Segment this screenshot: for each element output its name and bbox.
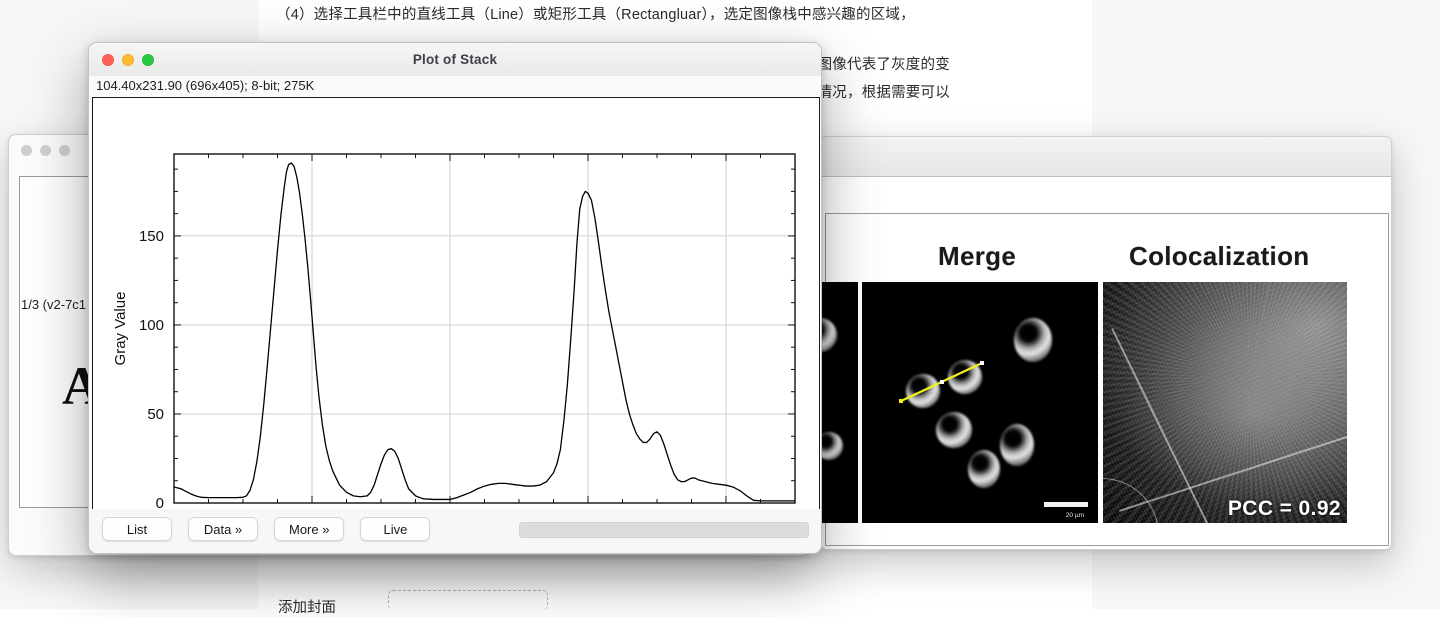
window-titlebar[interactable] — [821, 137, 1391, 177]
profile-plot-svg: 020406080050100150Distance (pixels)Gray … — [93, 98, 819, 554]
live-button[interactable]: Live — [360, 517, 430, 541]
more-menu-button[interactable]: More » — [274, 517, 344, 541]
plot-window-title: Plot of Stack — [89, 52, 821, 67]
add-cover-dropzone[interactable] — [388, 590, 548, 610]
plot-slider[interactable] — [519, 522, 809, 538]
microscopy-panel-merge: 20 μm — [862, 282, 1098, 523]
pcc-value-label: PCC = 0.92 — [1228, 497, 1341, 521]
svg-text:50: 50 — [147, 406, 164, 423]
plot-toolbar[interactable]: List Data » More » Live — [89, 509, 821, 553]
svg-text:Gray Value: Gray Value — [112, 292, 129, 366]
figure-panel-title-merge: Merge — [938, 241, 1016, 272]
plot-window-titlebar[interactable]: Plot of Stack — [89, 43, 821, 77]
minimize-icon[interactable] — [40, 145, 51, 156]
svg-text:100: 100 — [139, 317, 164, 334]
plot-info-text: 104.40x231.90 (696x405); 8-bit; 275K — [96, 78, 314, 93]
close-icon[interactable] — [21, 145, 32, 156]
microscopy-panel-colocalization: PCC = 0.92 — [1103, 282, 1347, 523]
plot-of-stack-window[interactable]: Plot of Stack 104.40x231.90 (696x405); 8… — [88, 42, 822, 554]
add-cover-label: 添加封面 — [278, 596, 336, 617]
svg-text:150: 150 — [139, 228, 164, 245]
data-menu-button[interactable]: Data » — [188, 517, 258, 541]
scale-bar — [1044, 502, 1088, 507]
plot-canvas[interactable]: 020406080050100150Distance (pixels)Gray … — [92, 97, 820, 554]
window-controls-inactive[interactable] — [21, 145, 70, 156]
figure-panel-title-colocalization: Colocalization — [1129, 241, 1309, 272]
scale-bar-label: 20 μm — [1066, 512, 1084, 519]
plot-info-bar: 104.40x231.90 (696x405); 8-bit; 275K — [89, 76, 821, 97]
colocalization-scatter-cloud — [1103, 282, 1347, 523]
stack-position-status: 1/3 (v2-7c1 — [21, 297, 86, 312]
document-paragraph-line: （4）选择工具栏中的直线工具（Line）或矩形工具（Rectangluar），选… — [276, 3, 915, 24]
maximize-icon[interactable] — [59, 145, 70, 156]
list-button[interactable]: List — [102, 517, 172, 541]
